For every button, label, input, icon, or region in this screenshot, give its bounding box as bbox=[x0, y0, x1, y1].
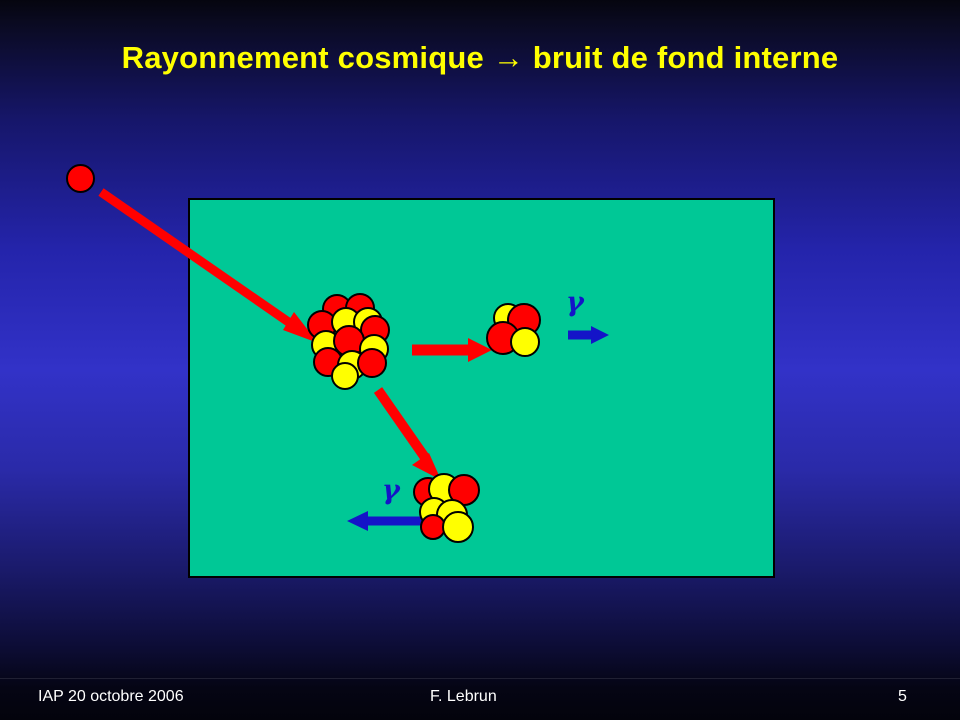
detector-volume-box bbox=[188, 198, 775, 578]
footer-author-label: F. Lebrun bbox=[430, 688, 497, 706]
nucleon-neutron bbox=[331, 362, 359, 390]
slide-footer: IAP 20 octobre 2006 F. Lebrun 5 bbox=[0, 678, 960, 720]
cosmic-ray-particle bbox=[66, 164, 95, 193]
slide-canvas: Rayonnement cosmique → bruit de fond int… bbox=[0, 0, 960, 720]
nucleon-proton bbox=[357, 348, 387, 378]
page-title: Rayonnement cosmique → bruit de fond int… bbox=[0, 40, 960, 76]
footer-divider bbox=[0, 678, 960, 679]
gamma-label-left: γ bbox=[382, 477, 400, 504]
footer-event-label: IAP 20 octobre 2006 bbox=[38, 688, 184, 706]
gamma-label-right: γ bbox=[566, 289, 584, 316]
nucleon-neutron bbox=[442, 511, 474, 543]
footer-page-number: 5 bbox=[898, 688, 907, 706]
nucleon-neutron bbox=[510, 327, 540, 357]
